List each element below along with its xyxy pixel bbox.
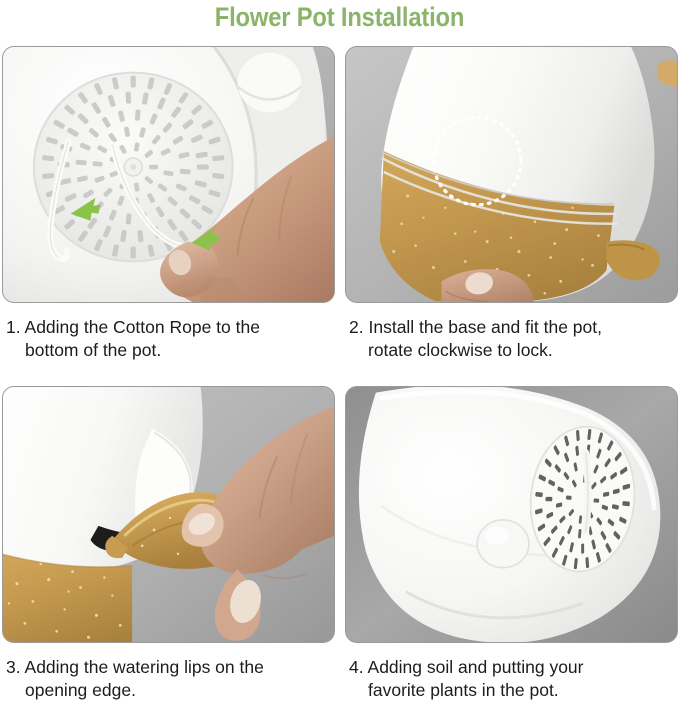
- step-1-illustration: [3, 47, 334, 302]
- step-3-illustration: [3, 387, 334, 642]
- step-3-photo: [2, 386, 335, 643]
- step-2-line1: Install the base and fit the pot,: [368, 317, 602, 337]
- step-4-caption: 4. Adding soil and putting your favorite…: [345, 656, 665, 702]
- step-3-caption: 3. Adding the watering lips on the openi…: [2, 656, 322, 702]
- step-1-number: 1.: [6, 317, 21, 337]
- step-4-line1: Adding soil and putting your: [368, 657, 584, 677]
- step-3-number: 3.: [6, 657, 21, 677]
- step-1-line2: bottom of the pot.: [6, 339, 322, 362]
- step-4: 4. Adding soil and putting your favorite…: [345, 386, 678, 702]
- step-4-photo: [345, 386, 678, 643]
- step-4-number: 4.: [349, 657, 364, 677]
- step-1-line1: Adding the Cotton Rope to the: [25, 317, 260, 337]
- step-2-illustration: [346, 47, 677, 302]
- step-2-photo: [345, 46, 678, 303]
- infographic-page: Flower Pot Installation: [0, 0, 679, 701]
- center-knob: [477, 520, 529, 568]
- step-1-caption: 1. Adding the Cotton Rope to the bottom …: [2, 316, 322, 362]
- step-2-line2: rotate clockwise to lock.: [349, 339, 665, 362]
- step-4-illustration: [346, 387, 677, 642]
- step-3: 3. Adding the watering lips on the openi…: [2, 386, 335, 702]
- step-1-photo: [2, 46, 335, 303]
- step-3-line1: Adding the watering lips on the: [25, 657, 264, 677]
- step-2: 2. Install the base and fit the pot, rot…: [345, 46, 678, 362]
- step-3-line2: opening edge.: [6, 679, 322, 702]
- step-4-line2: favorite plants in the pot.: [349, 679, 665, 702]
- steps-grid: 1. Adding the Cotton Rope to the bottom …: [0, 46, 679, 696]
- step-2-number: 2.: [349, 317, 364, 337]
- page-title: Flower Pot Installation: [41, 0, 639, 38]
- step-2-caption: 2. Install the base and fit the pot, rot…: [345, 316, 665, 362]
- step-1: 1. Adding the Cotton Rope to the bottom …: [2, 46, 335, 362]
